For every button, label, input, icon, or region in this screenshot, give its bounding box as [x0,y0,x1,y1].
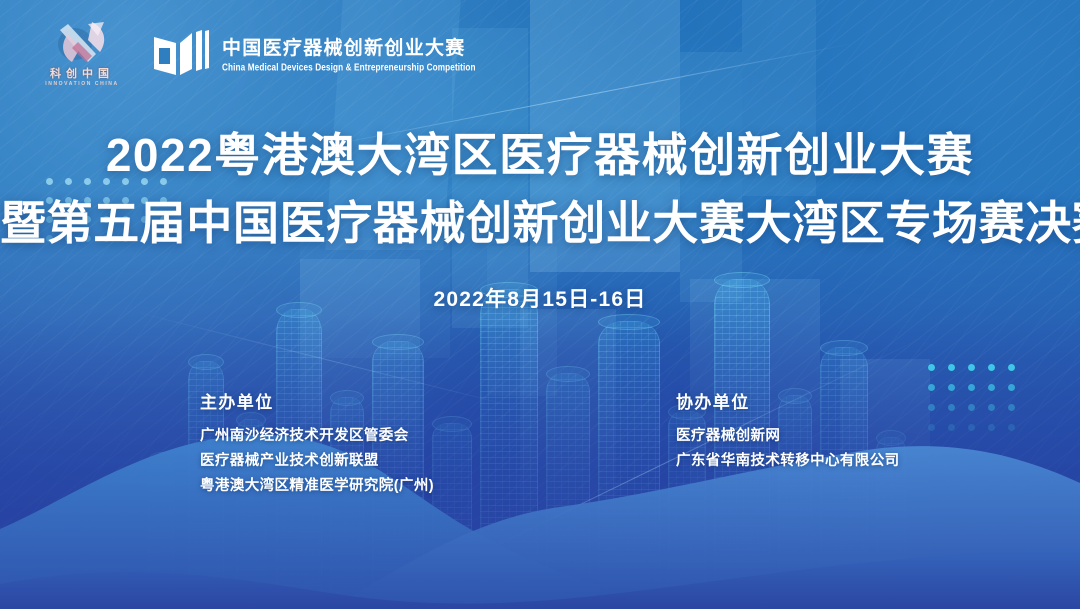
organizer-heading: 主办单位 [200,388,434,413]
logo-innovation-china-en: INNOVATION CHINA [45,82,118,87]
title-block: 2022粤港澳大湾区医疗器械创新创业大赛 暨第五届中国医疗器械创新创业大赛大湾区… [0,128,1080,313]
logo-competition-cn: 中国医疗器械创新创业大赛 [222,38,476,60]
poster-header: 科创中国 INNOVATION CHINA 中国医疗器械创新创业大赛 China… [0,0,476,110]
organizer-heading: 协办单位 [676,388,900,413]
event-poster: 科创中国 INNOVATION CHINA 中国医疗器械创新创业大赛 China… [0,0,1080,609]
logo-competition-en: China Medical Devices Design & Entrepren… [222,62,476,74]
organizer-line: 医疗器械产业技术创新联盟 [200,449,434,474]
page-title-line-2: 暨第五届中国医疗器械创新创业大赛大湾区专场赛决赛 [0,196,1080,250]
event-date: 2022年8月15日-16日 [0,283,1080,313]
organizer-section: 主办单位 广州南沙经济技术开发区管委会 医疗器械产业技术创新联盟 粤港澳大湾区精… [0,388,1080,508]
organizer-column-host: 主办单位 广州南沙经济技术开发区管委会 医疗器械产业技术创新联盟 粤港澳大湾区精… [200,388,434,499]
bird-mark-icon [48,18,116,68]
organizer-line: 医疗器械创新网 [676,424,900,449]
organizer-line: 广州南沙经济技术开发区管委会 [200,424,434,449]
page-title-line-1: 2022粤港澳大湾区医疗器械创新创业大赛 [0,128,1080,182]
logo-innovation-china-cn: 科创中国 [50,69,114,80]
logo-innovation-china: 科创中国 INNOVATION CHINA [38,18,126,92]
organizer-line: 广东省华南技术转移中心有限公司 [676,449,900,474]
logo-competition: 中国医疗器械创新创业大赛 China Medical Devices Desig… [152,29,476,81]
organizer-column-coorganizer: 协办单位 医疗器械创新网 广东省华南技术转移中心有限公司 [676,388,900,474]
open-door-icon [152,29,210,81]
organizer-line: 粤港澳大湾区精准医学研究院(广州) [200,474,434,499]
